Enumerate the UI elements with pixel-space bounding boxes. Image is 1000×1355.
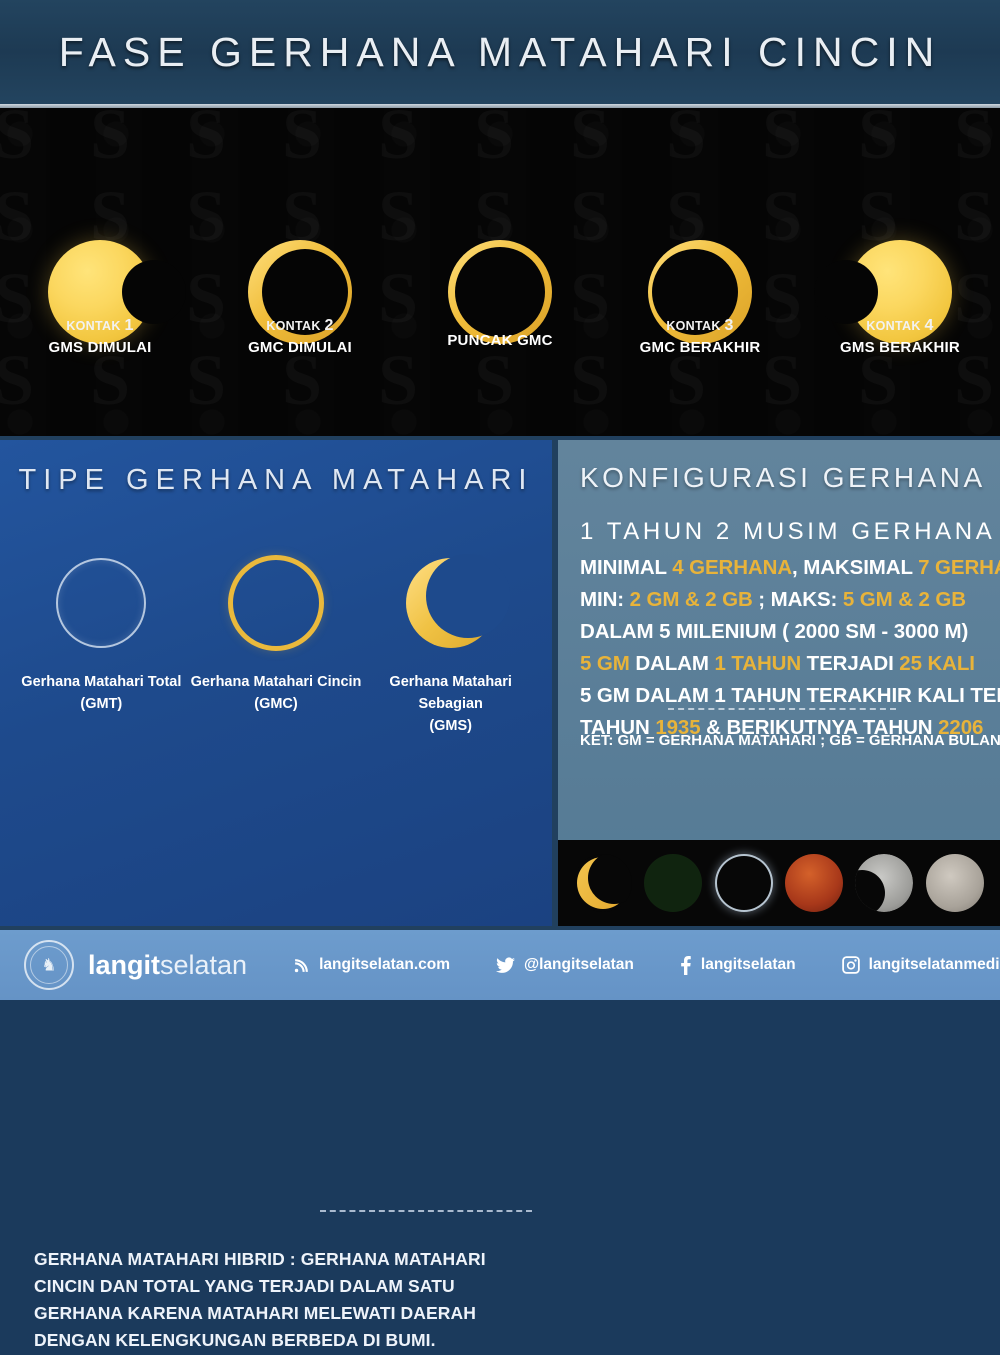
gold-crescent-icon <box>363 548 538 658</box>
eclipse-types-list: Gerhana Matahari Total (GMT) Gerhana Mat… <box>14 548 538 737</box>
total-solar-eclipse-photo <box>715 854 773 912</box>
phase-name-label: GMS DIMULAI <box>0 339 200 356</box>
crescent-eclipse-photo <box>574 854 632 912</box>
eclipse-phases-section: SSSSSSSSSSSSSSSSSSSSSSSSSSSSSSSSSSSSSSSS… <box>0 108 1000 436</box>
phase-row: KONTAK 1 GMS DIMULAI KONTAK 2 GMC DIMULA… <box>0 108 1000 436</box>
eclipse-type-gmc: Gerhana Matahari Cincin (GMC) <box>189 548 364 737</box>
eclipse-type-label: Gerhana Matahari Sebagian (GMS) <box>363 672 538 737</box>
brand-wordmark[interactable]: langitselatan <box>88 950 247 981</box>
full-moon-photo <box>926 854 984 912</box>
phase-contact-3: KONTAK 3 GMC BERAKHIR <box>600 108 800 436</box>
hybrid-eclipse-paragraph: GERHANA MATAHARI HIBRID : GERHANA MATAHA… <box>34 1246 532 1355</box>
phase-name-label: GMC DIMULAI <box>200 339 400 356</box>
eclipse-configuration-lines: 1 TAHUN 2 MUSIM GERHANA MINIMAL 4 GERHAN… <box>580 516 984 746</box>
footer-bar: ♞ langitselatan langitselatan.com @langi… <box>0 930 1000 1000</box>
page-title: FASE GERHANA MATAHARI CINCIN <box>59 29 941 76</box>
seal-glyph: ♞ <box>41 957 56 974</box>
footer-link-facebook[interactable]: langitselatan <box>680 956 796 975</box>
eclipse-type-gmt: Gerhana Matahari Total (GMT) <box>14 548 189 737</box>
phase-contact-1: KONTAK 1 GMS DIMULAI <box>0 108 200 436</box>
footer-link-label: @langitselatan <box>524 956 634 974</box>
phase-contact-label: KONTAK 3 <box>600 314 800 337</box>
eclipse-type-label: Gerhana Matahari Cincin (GMC) <box>189 672 364 716</box>
infographic-root: FASE GERHANA MATAHARI CINCIN SSSSSSSSSSS… <box>0 0 1000 1000</box>
eclipse-type-label: Gerhana Matahari Total (GMT) <box>14 672 189 716</box>
left-panel-divider <box>320 1210 532 1212</box>
eclipse-types-panel: TIPE GERHANA MATAHARI Gerhana Matahari T… <box>0 440 552 926</box>
phase-contact-4: KONTAK 4 GMS BERAKHIR <box>800 108 1000 436</box>
facebook-icon <box>680 956 692 975</box>
partial-lunar-eclipse-photo <box>855 854 913 912</box>
annular-eclipse-photo <box>644 854 702 912</box>
instagram-icon <box>842 956 860 974</box>
phase-contact-label: KONTAK 1 <box>0 314 200 337</box>
phase-name-label: GMC BERAKHIR <box>600 339 800 356</box>
footer-link-label: langitselatanmedia <box>869 956 1000 974</box>
eclipse-configuration-title: KONFIGURASI GERHANA <box>580 462 986 494</box>
footer-link-label: langitselatan.com <box>319 956 450 974</box>
logo-seal-icon: ♞ <box>24 940 74 990</box>
eclipse-photo-strip <box>558 840 1000 926</box>
legend-note: KET: GM = GERHANA MATAHARI ; GB = GERHAN… <box>580 732 1000 749</box>
footer-link-label: langitselatan <box>701 956 796 974</box>
config-line-5: 5 GM DALAM 1 TAHUN TERJADI 25 KALI <box>580 650 984 677</box>
circle-outline-icon <box>14 548 189 658</box>
config-line-4: DALAM 5 MILENIUM ( 2000 SM - 3000 M) <box>580 618 984 645</box>
eclipse-types-title: TIPE GERHANA MATAHARI <box>0 464 552 497</box>
rss-icon <box>293 957 310 974</box>
footer-link-website[interactable]: langitselatan.com <box>293 956 450 974</box>
eclipse-type-gms: Gerhana Matahari Sebagian (GMS) <box>363 548 538 737</box>
config-line-6: 5 GM DALAM 1 TAHUN TERAKHIR KALI TERJADI <box>580 682 984 709</box>
phase-peak: PUNCAK GMC <box>400 108 600 436</box>
gold-ring-icon <box>189 548 364 658</box>
header-bar: FASE GERHANA MATAHARI CINCIN <box>0 0 1000 104</box>
phase-name-label: PUNCAK GMC <box>400 332 600 349</box>
phase-contact-label: KONTAK 2 <box>200 314 400 337</box>
phase-contact-2: KONTAK 2 GMC DIMULAI <box>200 108 400 436</box>
footer-links: langitselatan.com @langitselatan langits… <box>247 956 1000 975</box>
footer-link-twitter[interactable]: @langitselatan <box>496 956 634 974</box>
config-line-1: 1 TAHUN 2 MUSIM GERHANA <box>580 516 984 548</box>
twitter-icon <box>496 957 515 974</box>
footer-link-instagram[interactable]: langitselatanmedia <box>842 956 1000 974</box>
phase-contact-label: KONTAK 4 <box>800 314 1000 337</box>
phase-name-label: GMS BERAKHIR <box>800 339 1000 356</box>
ring-even-icon <box>400 208 600 376</box>
blood-moon-photo <box>785 854 843 912</box>
config-line-3: MIN: 2 GM & 2 GB ; MAKS: 5 GM & 2 GB <box>580 586 984 613</box>
config-line-2: MINIMAL 4 GERHANA, MAKSIMAL 7 GERHANA <box>580 554 984 581</box>
right-panel-divider <box>668 708 896 710</box>
